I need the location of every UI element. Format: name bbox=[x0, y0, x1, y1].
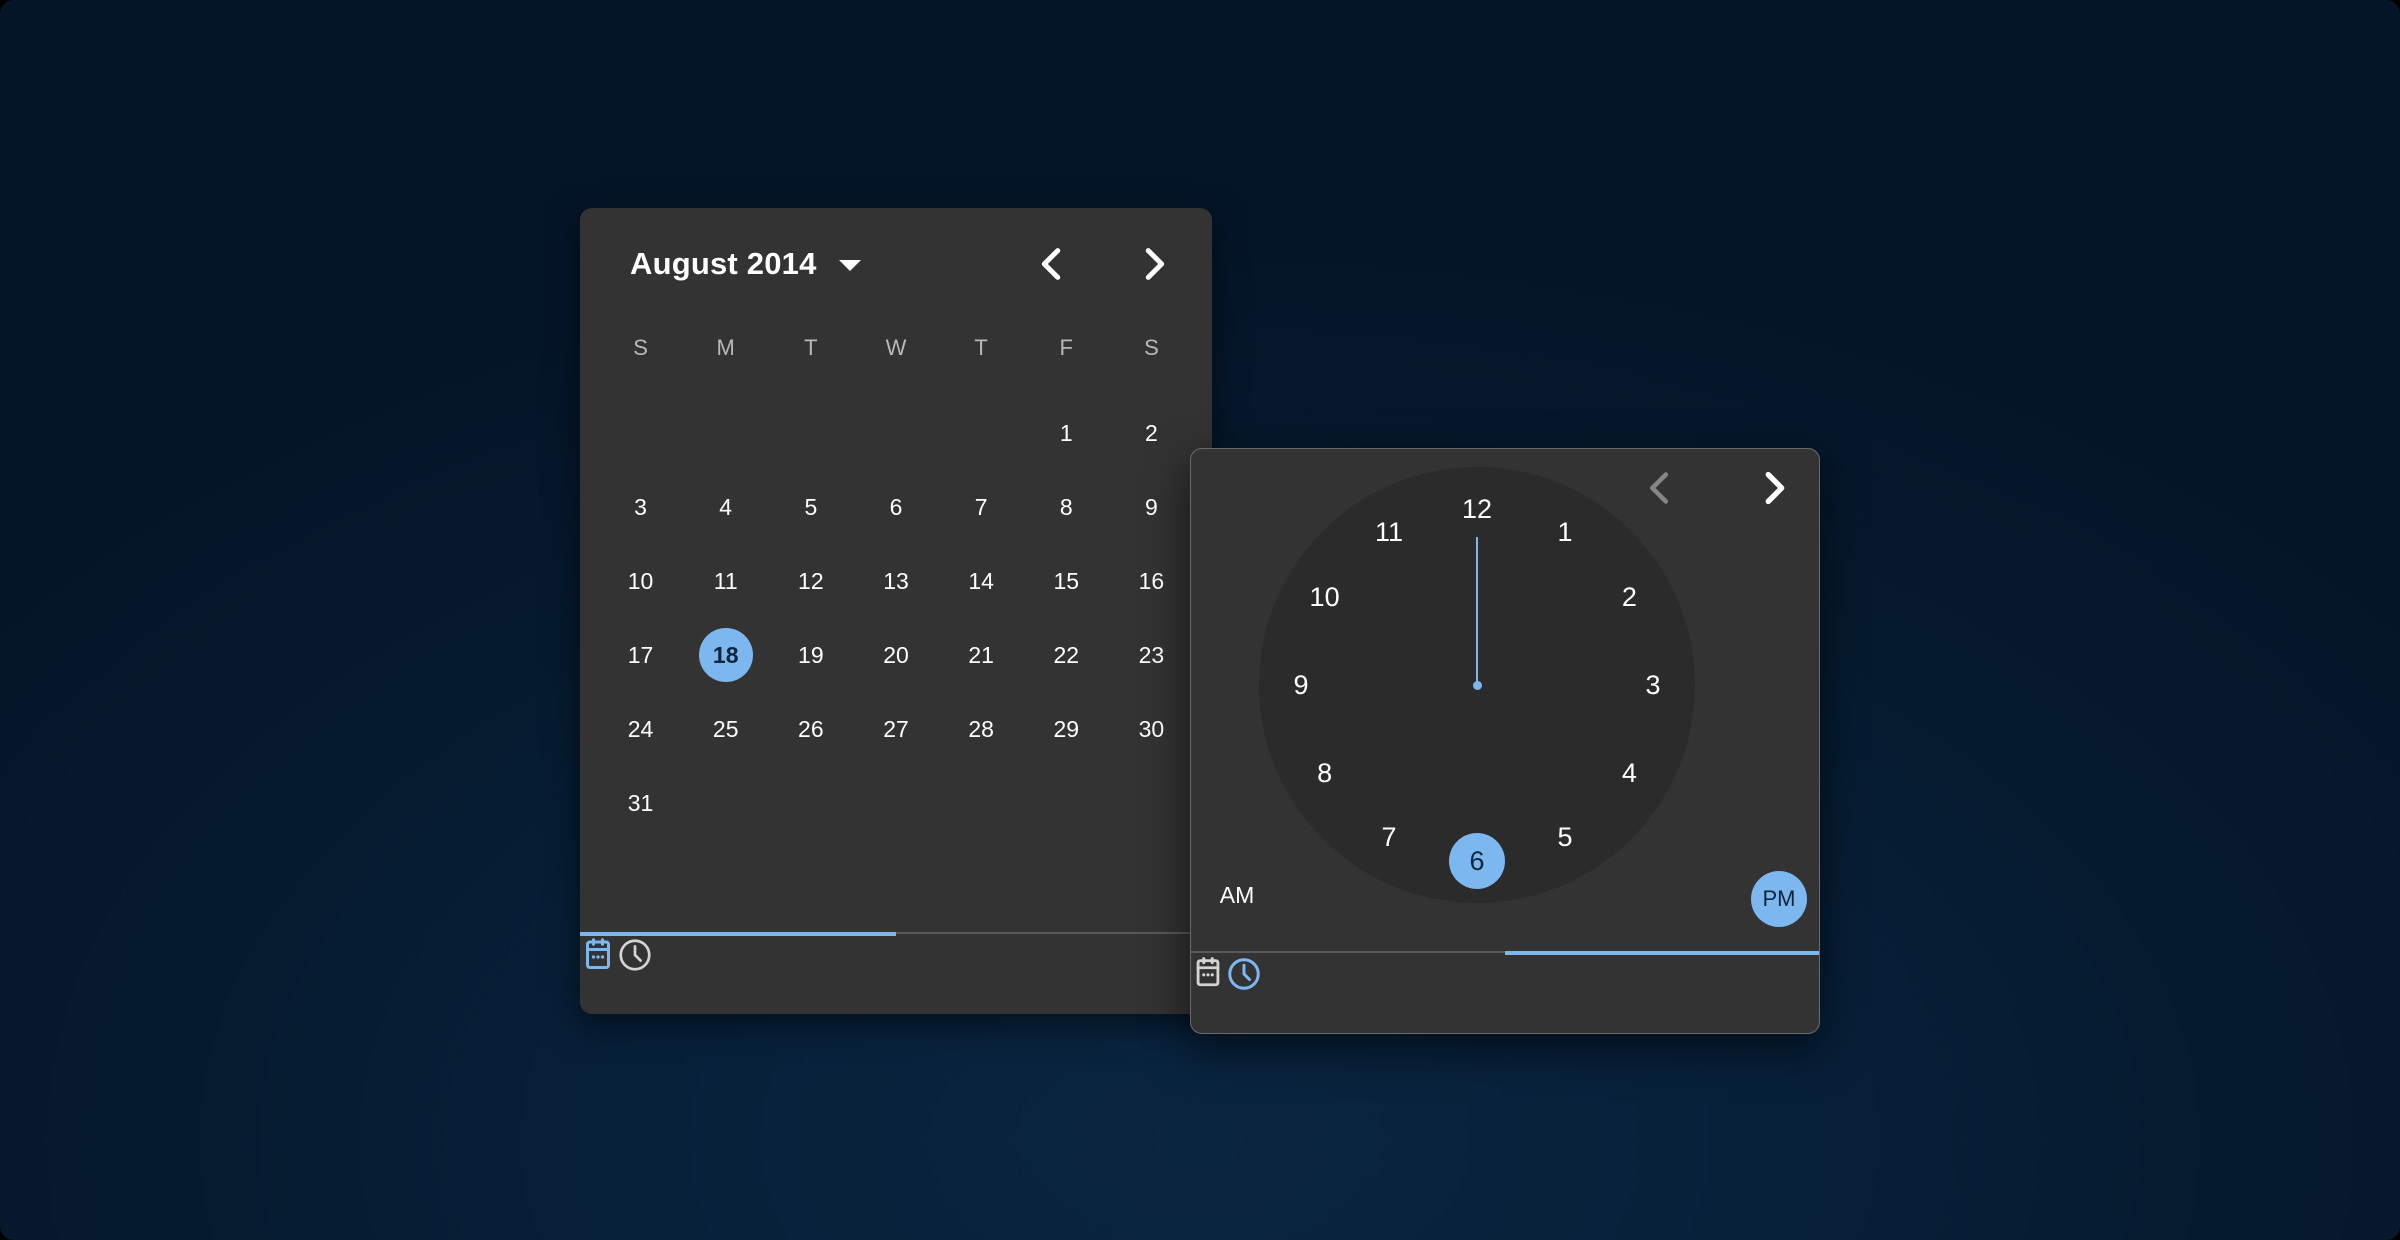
day-cell[interactable]: 30 bbox=[1109, 692, 1194, 766]
day-cell-empty bbox=[768, 396, 853, 470]
day-cell[interactable]: 5 bbox=[768, 470, 853, 544]
day-cell[interactable]: 1 bbox=[1024, 396, 1109, 470]
day-label: 24 bbox=[614, 702, 668, 756]
day-label: 31 bbox=[614, 776, 668, 830]
clock-hour[interactable]: 10 bbox=[1297, 569, 1353, 625]
day-cell[interactable]: 16 bbox=[1109, 544, 1194, 618]
weekday-label: S bbox=[1109, 334, 1194, 362]
day-cell-empty bbox=[939, 396, 1024, 470]
day-label: 9 bbox=[1124, 480, 1178, 534]
date-picker-tabbar-wrap bbox=[580, 932, 1212, 1014]
day-cell[interactable]: 17 bbox=[598, 618, 683, 692]
chevron-left-icon bbox=[1637, 465, 1683, 511]
day-cell[interactable]: 11 bbox=[683, 544, 768, 618]
time-picker-card: 121234567891011 AM PM bbox=[1190, 448, 1820, 1034]
tab-time[interactable] bbox=[1225, 955, 1263, 1033]
date-picker-header: August 2014 bbox=[580, 208, 1212, 320]
weekday-label: F bbox=[1024, 334, 1109, 362]
clock-hour[interactable]: 5 bbox=[1537, 809, 1593, 865]
day-label: 27 bbox=[869, 702, 923, 756]
day-label: 21 bbox=[954, 628, 1008, 682]
weekday-label: M bbox=[683, 334, 768, 362]
app-background: August 2014 SMTWTFS 12345678910111213141… bbox=[0, 0, 2400, 1240]
weekday-header-row: SMTWTFS bbox=[598, 334, 1194, 362]
day-label: 12 bbox=[784, 554, 838, 608]
day-cell[interactable]: 26 bbox=[768, 692, 853, 766]
day-cell[interactable]: 2 bbox=[1109, 396, 1194, 470]
tab-date[interactable] bbox=[1191, 955, 1225, 1033]
chevron-right-icon bbox=[1751, 465, 1797, 511]
day-label: 14 bbox=[954, 554, 1008, 608]
day-label: 6 bbox=[869, 480, 923, 534]
day-cell-selected[interactable]: 18 bbox=[683, 618, 768, 692]
day-cell[interactable]: 7 bbox=[939, 470, 1024, 544]
clock-hour-selected[interactable]: 6 bbox=[1449, 833, 1505, 889]
month-year-label: August 2014 bbox=[630, 246, 817, 282]
weekday-label: T bbox=[939, 334, 1024, 362]
weekday-label: T bbox=[768, 334, 853, 362]
day-label: 3 bbox=[614, 480, 668, 534]
day-label: 7 bbox=[954, 480, 1008, 534]
day-label: 5 bbox=[784, 480, 838, 534]
day-cell[interactable]: 12 bbox=[768, 544, 853, 618]
day-cell-empty bbox=[683, 396, 768, 470]
time-picker-header bbox=[1637, 465, 1797, 511]
clock-center-dot bbox=[1473, 681, 1482, 690]
clock-icon bbox=[1225, 955, 1263, 993]
calendar-icon bbox=[580, 936, 616, 972]
next-month-button[interactable] bbox=[1131, 241, 1177, 287]
day-label: 28 bbox=[954, 702, 1008, 756]
month-year-dropdown[interactable]: August 2014 bbox=[630, 238, 861, 290]
date-picker-card: August 2014 SMTWTFS 12345678910111213141… bbox=[580, 208, 1212, 1014]
clock-hour[interactable]: 3 bbox=[1625, 657, 1681, 713]
day-label: 23 bbox=[1124, 628, 1178, 682]
day-label: 10 bbox=[614, 554, 668, 608]
day-cell[interactable]: 14 bbox=[939, 544, 1024, 618]
am-button[interactable]: AM bbox=[1199, 882, 1275, 909]
clock-hour[interactable]: 11 bbox=[1361, 505, 1417, 561]
day-cell[interactable]: 6 bbox=[853, 470, 938, 544]
day-cell[interactable]: 20 bbox=[853, 618, 938, 692]
day-label: 17 bbox=[614, 628, 668, 682]
date-picker-tabbar bbox=[580, 936, 1212, 1014]
day-label: 1 bbox=[1039, 406, 1093, 460]
time-picker-tabbar bbox=[1191, 955, 1819, 1033]
day-cell[interactable]: 29 bbox=[1024, 692, 1109, 766]
day-cell-empty bbox=[598, 396, 683, 470]
clock-hour[interactable]: 4 bbox=[1601, 745, 1657, 801]
day-cell[interactable]: 13 bbox=[853, 544, 938, 618]
day-label: 2 bbox=[1124, 406, 1178, 460]
day-label: 29 bbox=[1039, 702, 1093, 756]
day-label: 20 bbox=[869, 628, 923, 682]
day-label: 19 bbox=[784, 628, 838, 682]
day-grid: 1234567891011121314151617181920212223242… bbox=[598, 396, 1194, 840]
prev-time-button[interactable] bbox=[1637, 465, 1683, 511]
calendar-icon bbox=[1191, 955, 1225, 989]
day-label: 15 bbox=[1039, 554, 1093, 608]
day-cell[interactable]: 25 bbox=[683, 692, 768, 766]
prev-month-button[interactable] bbox=[1029, 241, 1075, 287]
clock-hour[interactable]: 8 bbox=[1297, 745, 1353, 801]
day-cell[interactable]: 19 bbox=[768, 618, 853, 692]
day-cell[interactable]: 3 bbox=[598, 470, 683, 544]
day-label: 18 bbox=[699, 628, 753, 682]
day-label: 16 bbox=[1124, 554, 1178, 608]
day-label: 11 bbox=[699, 554, 753, 608]
day-cell[interactable]: 28 bbox=[939, 692, 1024, 766]
day-label: 8 bbox=[1039, 480, 1093, 534]
tab-date[interactable] bbox=[580, 936, 616, 1014]
pm-button[interactable]: PM bbox=[1751, 871, 1807, 927]
weekday-label: S bbox=[598, 334, 683, 362]
day-label: 22 bbox=[1039, 628, 1093, 682]
day-cell[interactable]: 10 bbox=[598, 544, 683, 618]
day-cell[interactable]: 23 bbox=[1109, 618, 1194, 692]
day-label: 4 bbox=[699, 480, 753, 534]
day-cell[interactable]: 4 bbox=[683, 470, 768, 544]
clock-hand bbox=[1476, 537, 1478, 685]
time-picker-tabbar-wrap bbox=[1191, 951, 1819, 1033]
day-cell[interactable]: 8 bbox=[1024, 470, 1109, 544]
day-cell-empty bbox=[853, 396, 938, 470]
day-cell[interactable]: 15 bbox=[1024, 544, 1109, 618]
day-cell[interactable]: 21 bbox=[939, 618, 1024, 692]
tab-time[interactable] bbox=[616, 936, 654, 1014]
day-label: 26 bbox=[784, 702, 838, 756]
day-label: 13 bbox=[869, 554, 923, 608]
next-time-button[interactable] bbox=[1751, 465, 1797, 511]
day-cell[interactable]: 22 bbox=[1024, 618, 1109, 692]
day-label: 25 bbox=[699, 702, 753, 756]
clock-hour[interactable]: 1 bbox=[1537, 505, 1593, 561]
caret-down-icon bbox=[839, 260, 861, 271]
day-cell[interactable]: 24 bbox=[598, 692, 683, 766]
weekday-label: W bbox=[853, 334, 938, 362]
clock-hour[interactable]: 9 bbox=[1273, 657, 1329, 713]
chevron-right-icon bbox=[1131, 241, 1177, 287]
clock-face[interactable]: 121234567891011 bbox=[1259, 467, 1695, 903]
day-cell[interactable]: 9 bbox=[1109, 470, 1194, 544]
chevron-left-icon bbox=[1029, 241, 1075, 287]
day-label: 30 bbox=[1124, 702, 1178, 756]
day-cell[interactable]: 31 bbox=[598, 766, 683, 840]
clock-icon bbox=[616, 936, 654, 974]
clock-hour[interactable]: 7 bbox=[1361, 809, 1417, 865]
clock-hour[interactable]: 12 bbox=[1449, 481, 1505, 537]
clock-hour[interactable]: 2 bbox=[1601, 569, 1657, 625]
day-cell[interactable]: 27 bbox=[853, 692, 938, 766]
